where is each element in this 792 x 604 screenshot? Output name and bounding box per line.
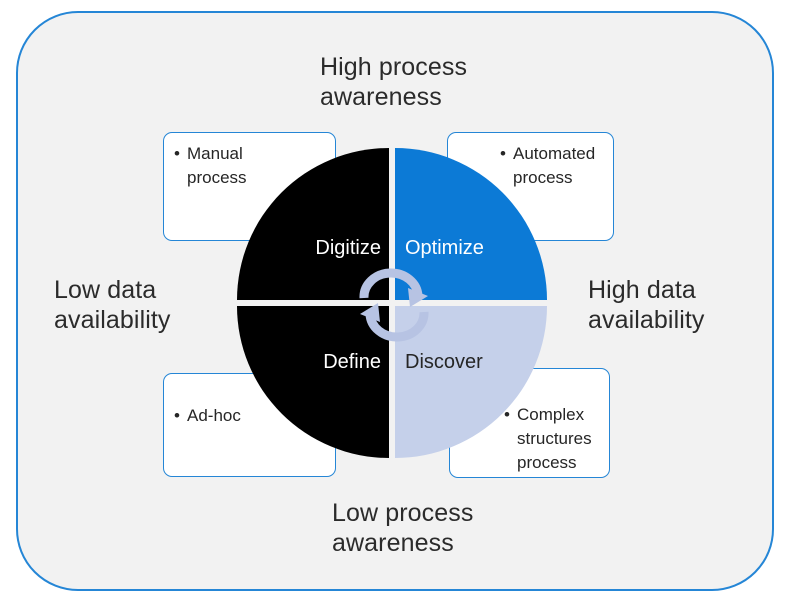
- axis-label-left: Low data availability: [54, 275, 171, 335]
- quadrant-label-digitize: Digitize: [315, 236, 381, 260]
- axis-label-bottom: Low process awareness: [332, 498, 473, 558]
- quadrant-label-define: Define: [323, 350, 381, 374]
- bullet-icon: •: [174, 404, 180, 428]
- axis-label-top: High process awareness: [320, 52, 467, 112]
- axis-label-right: High data availability: [588, 275, 705, 335]
- quadrant-label-discover: Discover: [405, 350, 483, 374]
- quadrant-wheel: Digitize Optimize Define Discover: [237, 148, 547, 458]
- quadrant-discover[interactable]: Discover: [395, 306, 547, 458]
- diagram-canvas: High process awareness Low process aware…: [0, 0, 792, 604]
- bullet-icon: •: [174, 142, 180, 166]
- quadrant-define[interactable]: Define: [237, 306, 389, 458]
- quadrant-label-optimize: Optimize: [405, 236, 484, 260]
- quadrant-digitize[interactable]: Digitize: [237, 148, 389, 300]
- quadrant-optimize[interactable]: Optimize: [395, 148, 547, 300]
